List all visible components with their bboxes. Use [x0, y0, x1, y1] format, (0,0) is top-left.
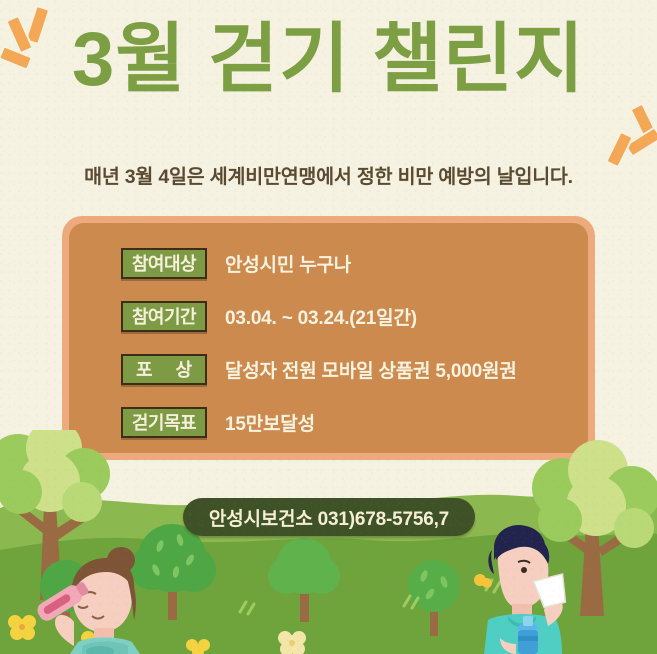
info-row: 포 상 달성자 전원 모바일 상품권 5,000원권 [121, 351, 588, 387]
info-value-reward: 달성자 전원 모바일 상품권 5,000원권 [225, 356, 517, 383]
info-card-inner: 참여대상 안성시민 누구나 참여기간 03.04. ~ 03.24.(21일간)… [69, 223, 588, 453]
info-value-period: 03.04. ~ 03.24.(21일간) [225, 303, 417, 330]
info-card: 참여대상 안성시민 누구나 참여기간 03.04. ~ 03.24.(21일간)… [62, 216, 595, 460]
info-row: 참여기간 03.04. ~ 03.24.(21일간) [121, 298, 588, 334]
info-label-reward: 포 상 [121, 354, 207, 385]
page-title: 3월 걷기 챌린지 [0, 22, 657, 98]
park-illustration [0, 430, 657, 654]
poster: 3월 걷기 챌린지 매년 3월 4일은 세계비만연맹에서 정한 비만 예방의 날… [0, 0, 657, 654]
info-row: 참여대상 안성시민 누구나 [121, 245, 588, 281]
info-label-period: 참여기간 [121, 301, 207, 332]
info-label-participants: 참여대상 [121, 248, 207, 279]
page-subtitle: 매년 3월 4일은 세계비만연맹에서 정한 비만 예방의 날입니다. [0, 160, 657, 189]
info-value-participants: 안성시민 누구나 [225, 250, 351, 277]
sparkle-marks-icon [606, 104, 657, 166]
contact-badge: 안성시보건소 031)678-5756,7 [183, 498, 475, 536]
